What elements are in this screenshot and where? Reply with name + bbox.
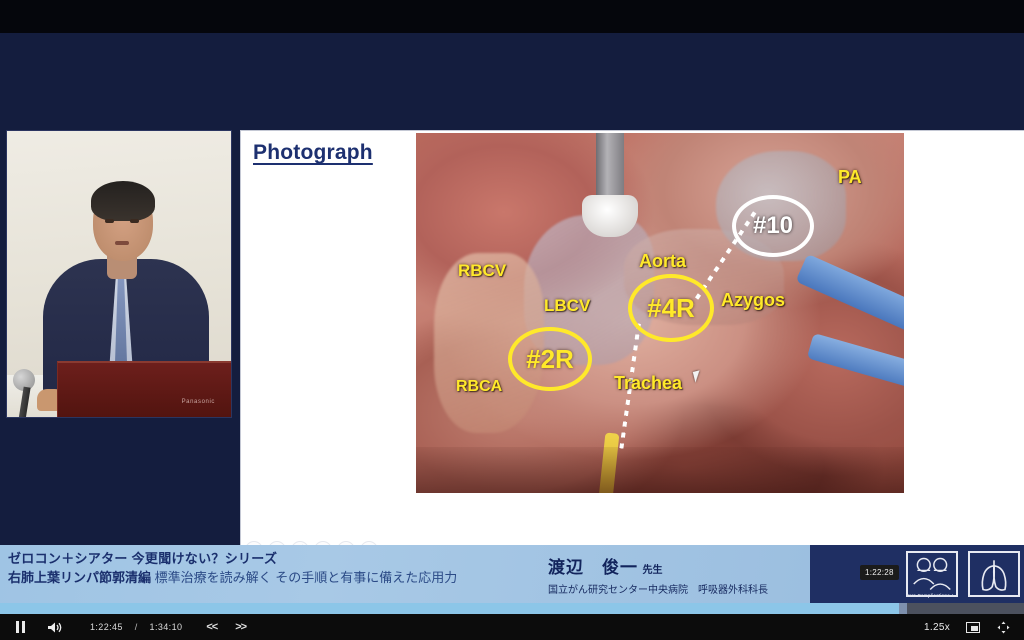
banner-episode-subtitle: 標準治療を読み解く その手順と有事に備えた応用力 [155, 570, 458, 585]
total-time: 1:34:10 [150, 622, 183, 632]
speaker-mouth [115, 241, 129, 245]
label-pa: PA [838, 167, 862, 188]
speaker-eye-right [130, 219, 139, 223]
player-controls: 1:22:45 / 1:34:10 << >> 1.25x [0, 614, 1024, 640]
progress-bar[interactable] [0, 603, 1024, 614]
time-display: 1:22:45 / 1:34:10 [90, 622, 182, 632]
speaker-video-panel[interactable]: Panasonic [6, 130, 232, 418]
surgical-team-icon [906, 551, 958, 597]
surgical-photograph: RBCV LBCV RBCA Aorta Azygos Trachea PA #… [416, 133, 904, 493]
letterbox-top [0, 0, 1024, 33]
progress-fill [0, 603, 899, 614]
slide-panel[interactable]: Photograph RBCV LBCV RBCA Aorta Azygos [240, 130, 1024, 570]
volume-button[interactable] [46, 621, 64, 634]
label-rbca: RBCA [456, 378, 502, 396]
time-separator: / [135, 622, 138, 632]
speaker-info: 渡辺 俊一 先生 国立がん研究センター中央病院 呼吸器外科科長 [548, 553, 768, 596]
speaker-eye-left [105, 219, 114, 223]
mouse-cursor [693, 370, 702, 382]
speaker-hair [91, 181, 155, 221]
suction-tube [596, 133, 624, 203]
forward-button[interactable]: >> [235, 621, 246, 633]
info-banner: ゼロコン＋シアター 今更聞けない？シリーズ 右肺上葉リンパ節郭清編 標準治療を読… [0, 545, 1024, 603]
lymph-node-marker-10: #10 [732, 195, 814, 257]
label-trachea: Trachea [614, 373, 682, 394]
label-aorta: Aorta [639, 251, 686, 272]
fullscreen-icon[interactable] [996, 620, 1010, 634]
pause-icon [16, 621, 25, 633]
surgical-instrument-upper [796, 254, 904, 334]
lungs-icon [968, 551, 1020, 597]
picture-in-picture-icon[interactable] [966, 622, 980, 633]
banner-logo-area: 1:22:28 Zero Complications + [810, 545, 1024, 603]
playback-speed-button[interactable]: 1.25x [924, 622, 950, 633]
laptop-brand-label: Panasonic [182, 399, 215, 405]
pause-button[interactable] [12, 621, 28, 633]
label-lbcv: LBCV [544, 296, 590, 316]
slide-title: Photograph [253, 141, 373, 165]
speaker-affiliation: 国立がん研究センター中央病院 呼吸器外科科長 [548, 581, 768, 596]
logo-caption: Zero Complications + [906, 593, 962, 598]
controls-right-group: 1.25x [924, 620, 1024, 634]
volume-icon [47, 621, 63, 634]
rewind-button[interactable]: << [206, 621, 217, 633]
podium-laptop: Panasonic [57, 361, 232, 417]
current-time: 1:22:45 [90, 622, 123, 632]
label-azygos: Azygos [721, 290, 785, 311]
progress-handle[interactable] [899, 603, 907, 614]
photo-shadow [416, 447, 904, 493]
lymph-node-marker-2r: #2R [508, 327, 592, 391]
lymph-node-marker-4r: #4R [628, 274, 714, 342]
surgical-instrument-lower [807, 333, 904, 391]
seek-tooltip: 1:22:28 [860, 565, 899, 580]
speaker-name: 渡辺 俊一 [548, 558, 638, 577]
banner-title-area: ゼロコン＋シアター 今更聞けない？シリーズ 右肺上葉リンパ節郭清編 標準治療を読… [0, 545, 810, 603]
player-window: Panasonic Photograph RBCV [0, 0, 1024, 640]
presentation-stage: Panasonic Photograph RBCV [0, 33, 1024, 545]
suction-tip [582, 195, 638, 237]
speaker-honorific: 先生 [642, 565, 662, 576]
label-rbcv: RBCV [458, 261, 506, 281]
banner-episode-title: 右肺上葉リンパ節郭清編 [8, 570, 151, 585]
